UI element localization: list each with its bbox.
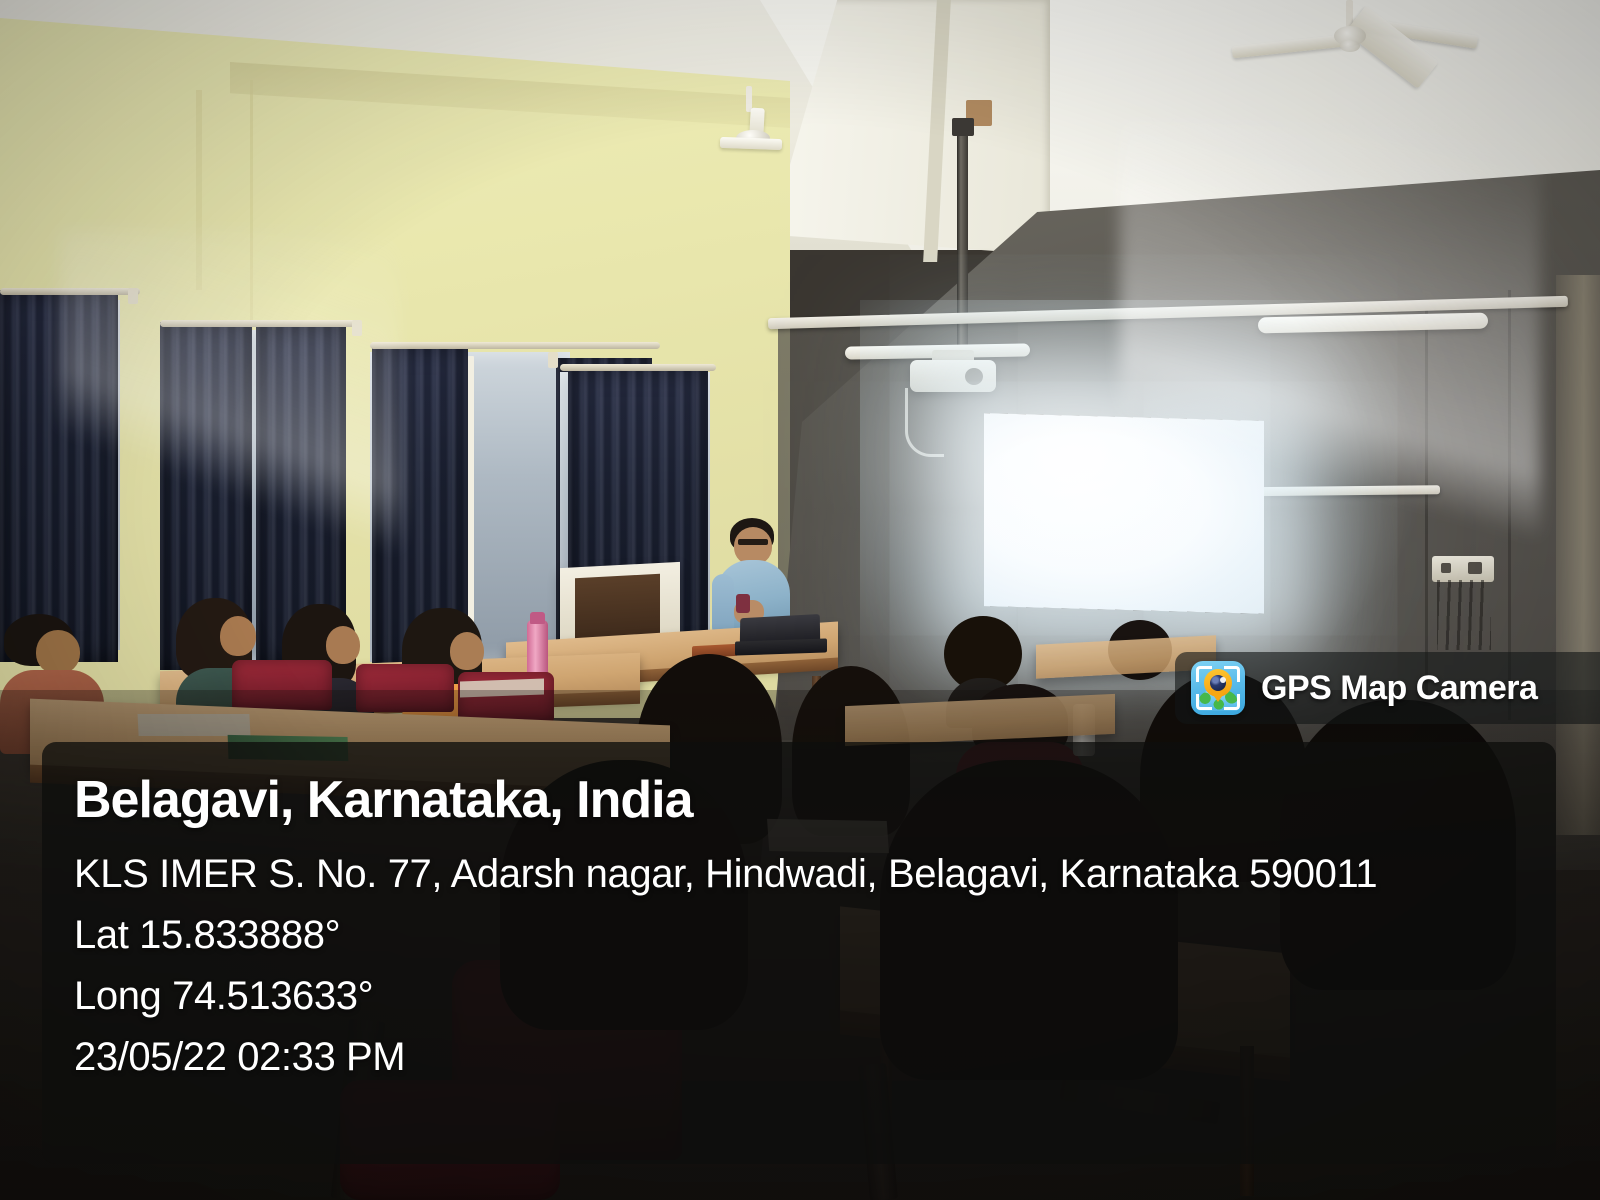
projection-screen [984, 413, 1264, 614]
left-wall-seam [196, 90, 202, 290]
wall-cables [1437, 580, 1491, 650]
student-3-head [326, 626, 360, 664]
curtain-bracket-2 [352, 320, 362, 336]
projector-pole-top [952, 118, 974, 136]
gps-map-camera-badge: GPS Map Camera [1175, 652, 1600, 724]
chair-2 [356, 664, 454, 712]
right-wall-corner [1556, 275, 1600, 835]
viewfinder-corner-bottom-left-icon [1196, 694, 1212, 710]
viewfinder-corner-bottom-right-icon [1224, 694, 1240, 710]
gps-map-camera-photo: GPS Map Camera Belagavi, Karnataka, Indi… [0, 0, 1600, 1200]
presenter-glasses [738, 539, 768, 545]
curtain-rod-3 [370, 342, 660, 349]
location-datetime: 23/05/22 02:33 PM [74, 1027, 1556, 1088]
podium-panel [575, 574, 660, 640]
presenter-phone [736, 594, 750, 613]
curtain-bracket-1 [128, 288, 138, 304]
right-wall-seam-1 [1425, 300, 1428, 700]
curtain-bracket-3 [548, 352, 558, 368]
location-longitude: Long 74.513633° [74, 966, 1556, 1027]
student-4-head [450, 632, 484, 670]
projector-cable [905, 388, 944, 457]
projector-lens [965, 368, 983, 385]
student-2-head [220, 616, 256, 656]
lens-highlight-icon [1220, 677, 1226, 683]
curtain-1 [0, 290, 118, 662]
location-latitude: Lat 15.833888° [74, 905, 1556, 966]
chair-1 [232, 660, 332, 710]
location-address: KLS IMER S. No. 77, Adarsh nagar, Hindwa… [74, 844, 1556, 905]
wall-socket-holes [1441, 563, 1451, 573]
location-stamp-panel: Belagavi, Karnataka, India KLS IMER S. N… [42, 742, 1556, 1164]
curtain-rod-1 [0, 288, 140, 295]
paper-on-desk-1 [138, 714, 251, 736]
paper-on-desk-3 [460, 679, 544, 698]
wall-socket-holes-2 [1468, 562, 1482, 574]
water-bottle-cap [530, 612, 545, 624]
gps-map-camera-label: GPS Map Camera [1261, 669, 1537, 708]
curtain-rod-2 [160, 320, 360, 327]
location-place: Belagavi, Karnataka, India [74, 772, 1556, 828]
viewfinder-corner-top-right-icon [1224, 666, 1240, 682]
curtain-rod-4 [560, 364, 716, 371]
student-1-head [36, 630, 80, 674]
gps-map-camera-icon [1191, 661, 1245, 715]
